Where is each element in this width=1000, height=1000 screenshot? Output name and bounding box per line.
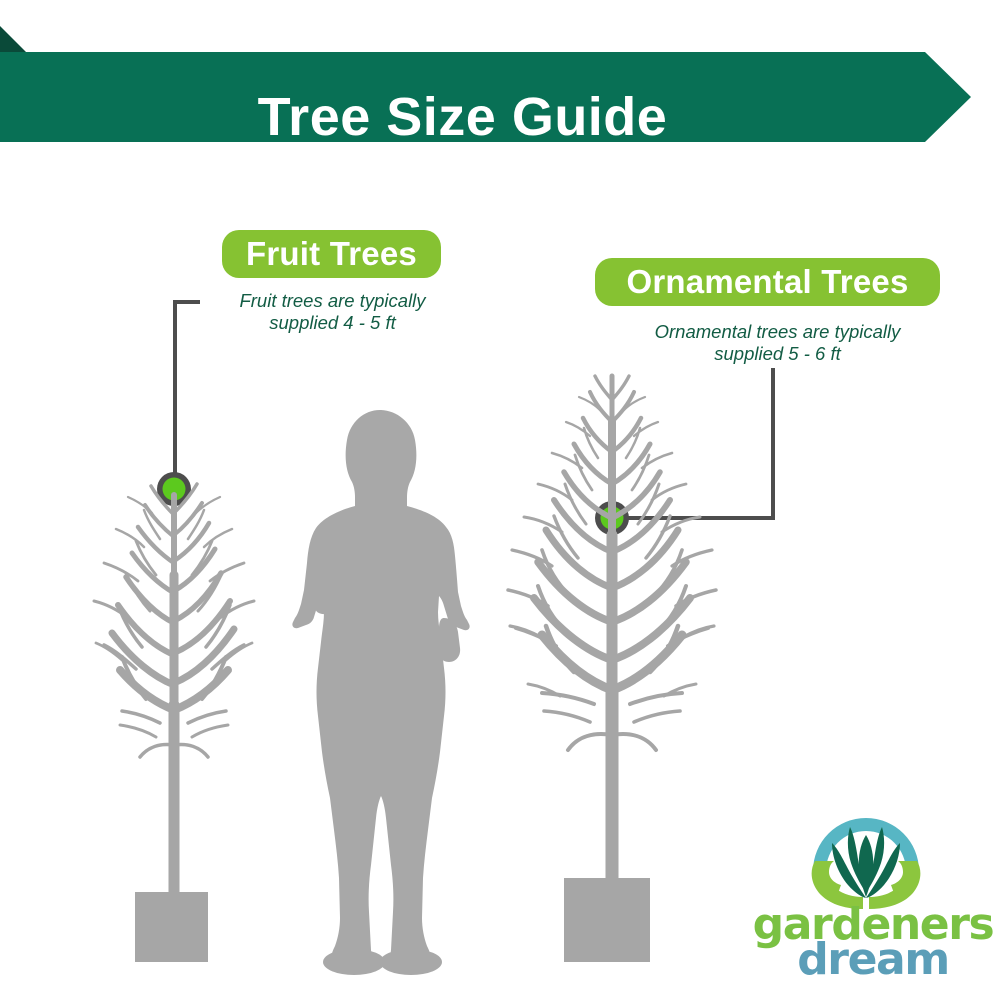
fruit-trees-label-pill: Fruit Trees (222, 230, 441, 278)
fruit-trees-caption: Fruit trees are typically supplied 4 - 5… (200, 290, 465, 334)
person-left-shoe (323, 949, 385, 975)
fruit-tree-pot (135, 892, 208, 962)
ornamental-tree-pot (564, 878, 650, 962)
brand-logo: gardeners dream (748, 805, 998, 990)
ornamental-trees-label-pill: Ornamental Trees (595, 258, 940, 306)
person-silhouette (292, 410, 469, 959)
person-right-shoe (380, 949, 442, 975)
ornamental-tree-illustration (490, 360, 740, 975)
page-title: Tree Size Guide (0, 72, 925, 162)
infographic-canvas: Tree Size Guide Fruit Trees Ornamental T… (0, 0, 1000, 1000)
banner-fold-triangle (0, 26, 26, 52)
ornamental-trees-caption: Ornamental trees are typically supplied … (610, 321, 945, 365)
fruit-tree-illustration (60, 455, 310, 975)
human-scale-reference (288, 400, 478, 975)
header-banner: Tree Size Guide (0, 20, 1000, 160)
logo-wordmark: gardeners dream (748, 903, 998, 993)
logo-center-leaf (859, 835, 873, 897)
